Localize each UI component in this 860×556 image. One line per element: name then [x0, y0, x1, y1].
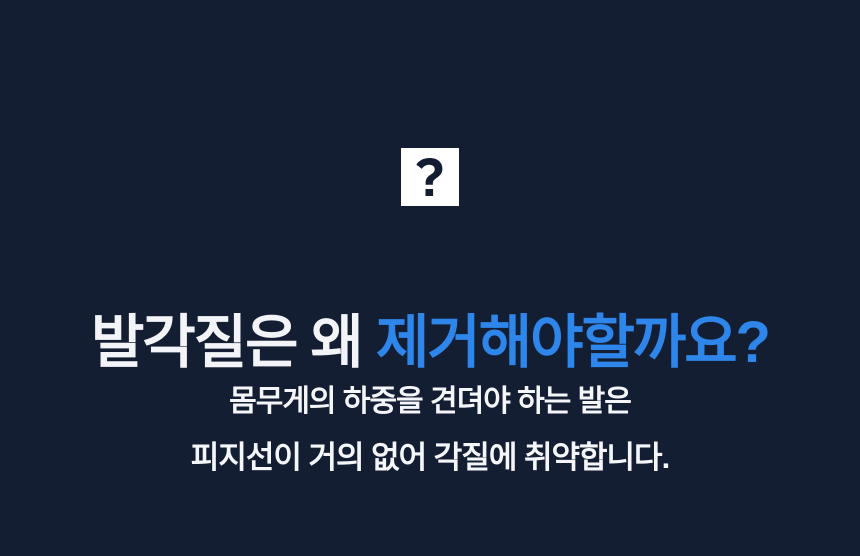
subtitle-line-2: 피지선이 거의 없어 각질에 취약합니다.	[0, 437, 860, 479]
headline: 발각질은 왜 제거해야할까요?	[0, 311, 860, 375]
subtitle-block: 몸무게의 하중을 견뎌야 하는 발은 피지선이 거의 없어 각질에 취약합니다.	[0, 382, 860, 479]
headline-segment-primary: 발각질은 왜	[91, 310, 376, 375]
promo-banner: 발각질은 왜 제거해야할까요? 몸무게의 하중을 견뎌야 하는 발은 피지선이 …	[0, 0, 860, 556]
question-mark-badge	[401, 148, 459, 206]
headline-segment-accent: 제거해야할까요?	[376, 310, 769, 375]
subtitle-line-1: 몸무게의 하중을 견뎌야 하는 발은	[0, 382, 860, 422]
question-mark-icon	[415, 158, 445, 196]
